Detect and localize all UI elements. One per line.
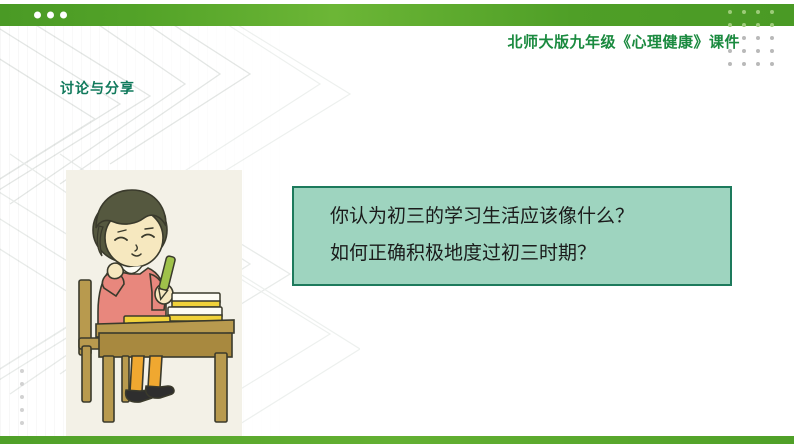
- grid-dot: [742, 10, 746, 14]
- grid-dot: [728, 62, 732, 66]
- grid-dot: [756, 23, 760, 27]
- grid-dot: [770, 62, 774, 66]
- grid-dot: [770, 23, 774, 27]
- student-illustration: [66, 170, 242, 437]
- question-line-1: 你认为初三的学习生活应该像什么？: [330, 207, 730, 228]
- grid-dot: [756, 36, 760, 40]
- grid-dot: [728, 10, 732, 14]
- topbar-dot: [34, 12, 41, 19]
- column-dot: [20, 369, 24, 373]
- slide-canvas: 北师大版九年级《心理健康》课件 讨论与分享: [0, 0, 794, 447]
- grid-dot: [742, 62, 746, 66]
- column-dot: [20, 395, 24, 399]
- grid-dot: [742, 23, 746, 27]
- topbar-dot: [60, 12, 67, 19]
- column-dot: [20, 382, 24, 386]
- top-accent-bar: [0, 4, 794, 26]
- bottom-left-dot-column: [20, 369, 24, 425]
- section-title: 讨论与分享: [60, 78, 135, 98]
- grid-dot: [742, 36, 746, 40]
- grid-dot: [728, 23, 732, 27]
- topbar-dot: [47, 12, 54, 19]
- column-dot: [20, 421, 24, 425]
- grid-dot: [770, 10, 774, 14]
- question-line-2: 如何正确积极地度过初三时期？: [330, 244, 730, 265]
- grid-dot: [770, 36, 774, 40]
- grid-dot: [756, 62, 760, 66]
- grid-dot: [742, 49, 746, 53]
- topbar-dots-decor: [34, 12, 67, 19]
- bottom-accent-bar: [0, 436, 794, 444]
- column-dot: [20, 408, 24, 412]
- student-at-desk-drawing: [66, 170, 242, 437]
- question-box: 你认为初三的学习生活应该像什么？ 如何正确积极地度过初三时期？: [292, 186, 732, 286]
- grid-dot: [770, 49, 774, 53]
- grid-dot: [756, 10, 760, 14]
- deck-title: 北师大版九年级《心理健康》课件: [507, 31, 740, 52]
- grid-dot: [756, 49, 760, 53]
